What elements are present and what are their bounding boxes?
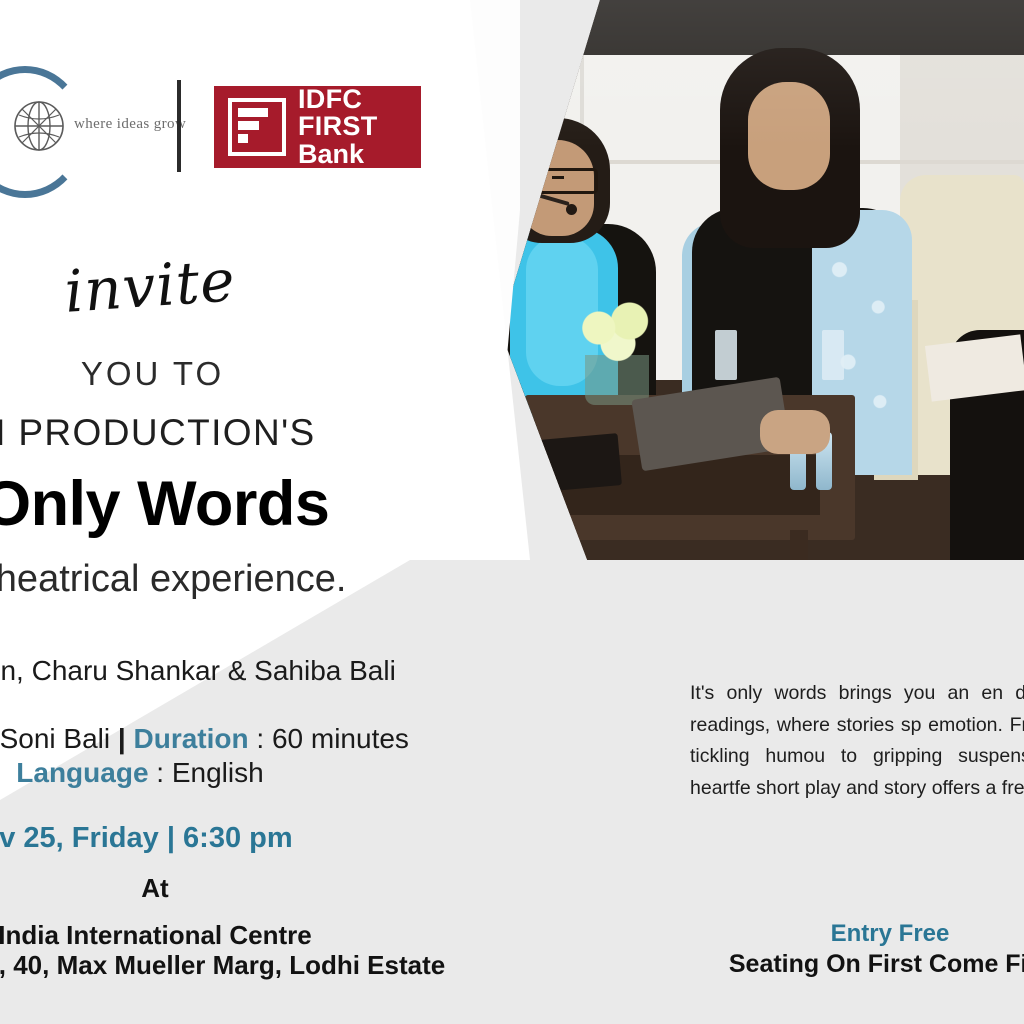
language-colon: :	[156, 757, 164, 788]
venue-address: ditorium, 40, Max Mueller Marg, Lodhi Es…	[0, 950, 520, 981]
globe-icon	[13, 100, 65, 152]
language-line: Language : English	[0, 757, 340, 789]
crew-separator: |	[118, 723, 126, 754]
language-label: Language	[16, 757, 148, 788]
idfc-mark-bar-3	[238, 134, 248, 143]
entry-free-label: Entry Free	[690, 920, 1024, 948]
production-house-label: RAN PRODUCTION'S	[0, 412, 360, 454]
cast-line: Tandon, Charu Shankar & Sahiba Bali	[0, 655, 460, 687]
event-date: Nov 25, Friday	[0, 822, 159, 854]
idfc-logo-line2: Bank	[298, 141, 421, 169]
date-time-separator: |	[167, 822, 175, 854]
seating-policy-label: Seating On First Come Firs	[640, 950, 1024, 979]
date-time-line: th Nov 25, Friday | 6:30 pm	[0, 822, 350, 855]
event-invitation-poster: where ideas grow IDFC FIRST Bank invite …	[0, 0, 1024, 1024]
duration-value: 60 minutes	[272, 723, 409, 754]
event-time: 6:30 pm	[183, 822, 293, 854]
idfc-logo-line1: IDFC FIRST	[298, 86, 421, 141]
idfc-logo-text: IDFC FIRST Bank	[298, 86, 421, 169]
you-to-label: YOU TO	[0, 355, 305, 393]
logo-divider	[177, 80, 181, 172]
partner-tagline: where ideas grow	[74, 116, 186, 133]
idfc-first-bank-logo: IDFC FIRST Bank	[214, 86, 421, 168]
idfc-mark-bar-2	[238, 121, 259, 130]
show-subtitle: e theatrical experience.	[0, 558, 470, 601]
show-title: s Only Words	[0, 468, 410, 540]
idfc-first-bank-mark-icon	[228, 98, 286, 156]
venue-name: India International Centre	[0, 920, 420, 951]
idfc-mark-bar-1	[238, 108, 268, 117]
venue-at-label: At	[0, 873, 310, 904]
language-value: English	[172, 757, 264, 788]
logo-row: where ideas grow IDFC FIRST Bank	[0, 72, 440, 180]
duration-label: Duration	[134, 723, 249, 754]
duration-colon: :	[256, 723, 264, 754]
crew-director-name: ujata Soni Bali	[0, 723, 110, 754]
show-description: It's only words brings you an en dramati…	[690, 678, 1024, 804]
crew-duration-line: ujata Soni Bali | Duration : 60 minutes	[0, 723, 470, 755]
